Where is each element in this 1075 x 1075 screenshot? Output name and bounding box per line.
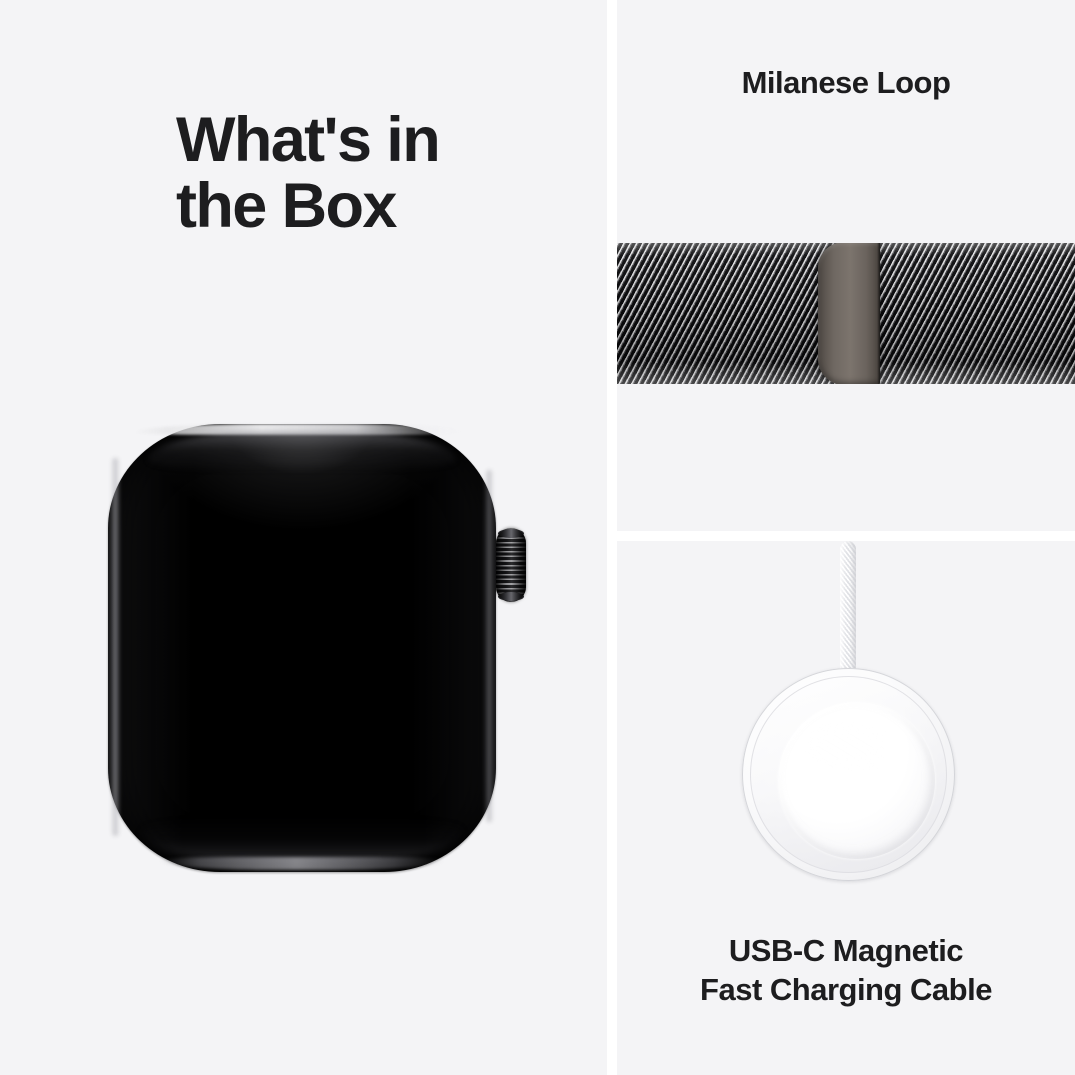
crown-shading [496,528,526,602]
page-title: What's in the Box [176,108,576,239]
case-bottom-rim-highlight [160,857,444,870]
charger-highlight [802,720,888,772]
panel-charging-cable: USB-C Magnetic Fast Charging Cable [617,541,1075,1075]
band-caption: Milanese Loop [617,64,1075,103]
band-magnetic-clasp [818,243,880,384]
case-right-edge-highlight [485,470,493,822]
case-left-edge-highlight [111,458,120,836]
cable-caption: USB-C Magnetic Fast Charging Cable [617,932,1075,1010]
milanese-loop-band [617,243,1075,384]
magnetic-charger-puck [742,668,955,881]
charger-inner-well [778,702,935,859]
product-gallery-image: What's in the Box Milanese Loop [0,0,1075,1075]
watch-case-body [108,424,496,872]
case-top-gloss-reflection [148,432,456,472]
clasp-edge-shadow [877,243,880,384]
digital-crown-icon [496,528,526,602]
panel-watch-case: What's in the Box [0,0,607,1075]
charger-outer-ring [750,676,947,873]
braided-cable [840,541,856,681]
panel-milanese-loop: Milanese Loop [617,0,1075,531]
apple-watch-case [108,424,496,872]
